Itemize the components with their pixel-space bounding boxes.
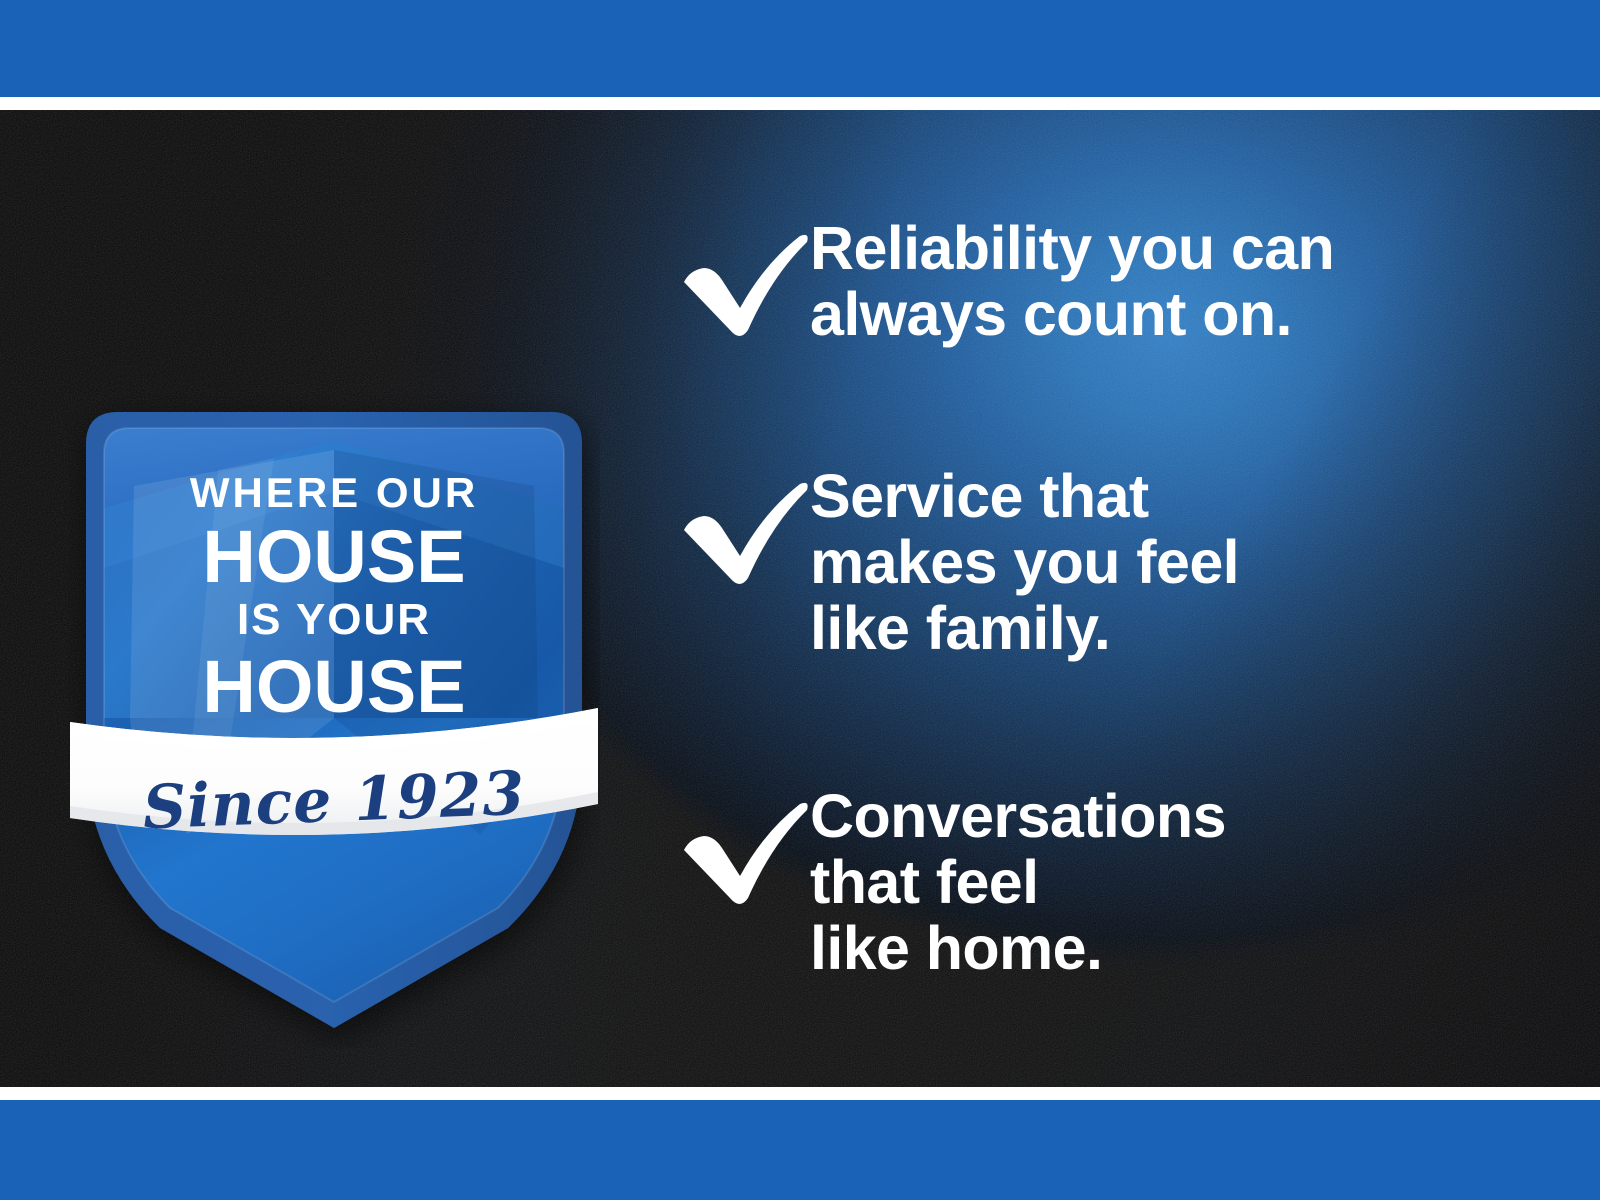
check-icon bbox=[660, 462, 810, 588]
list-item: Conversations that feel like home. bbox=[660, 782, 1226, 982]
poster-canvas: WHERE OUR HOUSE IS YOUR HOUSE Since 1923… bbox=[0, 110, 1600, 1087]
check-icon bbox=[660, 782, 810, 908]
promo-poster: WHERE OUR HOUSE IS YOUR HOUSE Since 1923… bbox=[0, 0, 1600, 1200]
list-item: Reliability you can always count on. bbox=[660, 214, 1334, 348]
list-item-text: Conversations that feel like home. bbox=[810, 782, 1226, 982]
shield-graphic bbox=[68, 388, 600, 1048]
top-brand-band bbox=[0, 0, 1600, 97]
bottom-brand-band bbox=[0, 1100, 1600, 1200]
top-divider bbox=[0, 97, 1600, 110]
bottom-divider bbox=[0, 1087, 1600, 1100]
check-icon bbox=[660, 214, 810, 340]
brand-shield-logo: WHERE OUR HOUSE IS YOUR HOUSE Since 1923 bbox=[68, 388, 600, 1048]
benefits-list: Reliability you can always count on. Ser… bbox=[660, 110, 1560, 1087]
list-item-text: Service that makes you feel like family. bbox=[810, 462, 1239, 662]
list-item-text: Reliability you can always count on. bbox=[810, 214, 1334, 348]
list-item: Service that makes you feel like family. bbox=[660, 462, 1239, 662]
